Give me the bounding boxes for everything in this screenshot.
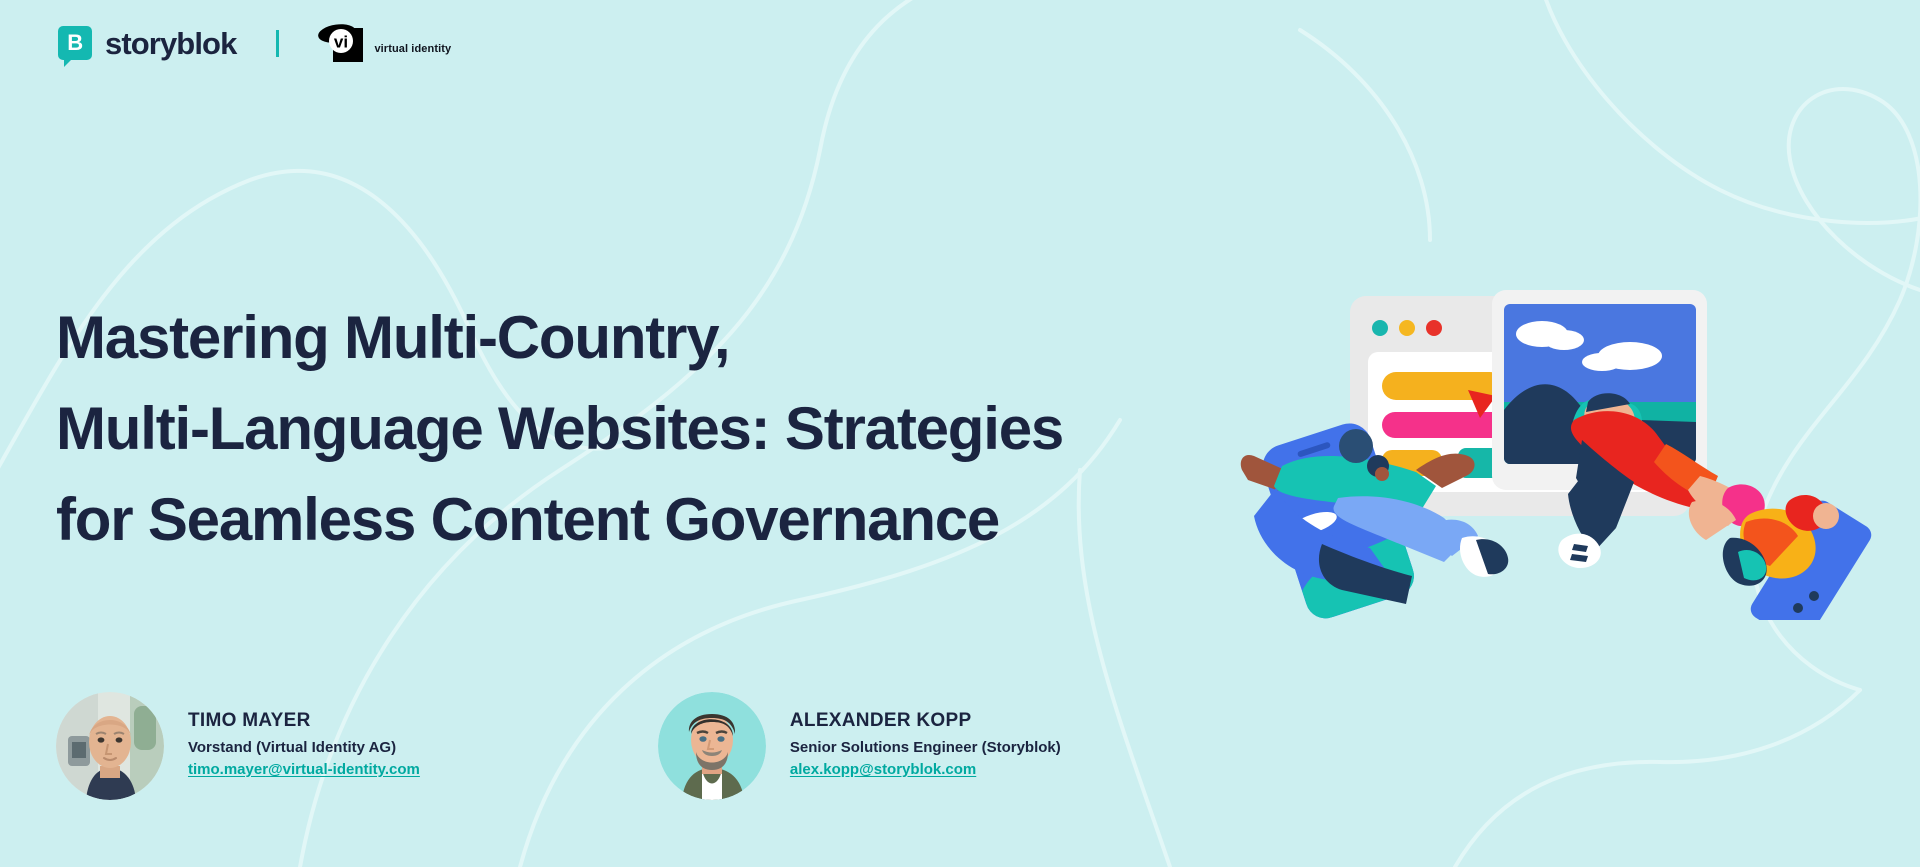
speaker-role: Senior Solutions Engineer (Storyblok) [790, 739, 1061, 757]
title-slide: B storyblok vi virtual identity Masterin… [0, 0, 1920, 867]
speaker-card: ALEXANDER KOPP Senior Solutions Engineer… [658, 692, 1061, 800]
speaker-name: TIMO MAYER [188, 711, 420, 730]
speaker-role: Vorstand (Virtual Identity AG) [188, 739, 420, 757]
person-yellow-graphic [1689, 495, 1875, 620]
svg-text:vi: vi [334, 33, 348, 52]
logo-divider [276, 30, 279, 57]
hero-illustration [1230, 290, 1900, 620]
speaker-email-link[interactable]: timo.mayer@virtual-identity.com [188, 761, 420, 779]
virtual-identity-logo[interactable]: vi virtual identity [317, 20, 451, 66]
storyblok-speech-bubble-icon: B [58, 26, 92, 60]
speaker-email-link[interactable]: alex.kopp@storyblok.com [790, 761, 976, 779]
title-line-3: for Seamless Content Governance [56, 474, 1236, 565]
speaker-info: ALEXANDER KOPP Senior Solutions Engineer… [790, 711, 1061, 781]
slide-title: Mastering Multi-Country, Multi-Language … [56, 292, 1236, 565]
speaker-card: TIMO MAYER Vorstand (Virtual Identity AG… [56, 692, 420, 800]
title-line-2: Multi-Language Websites: Strategies [56, 383, 1236, 474]
timo-mayer-avatar [56, 692, 164, 800]
speaker-info: TIMO MAYER Vorstand (Virtual Identity AG… [188, 711, 420, 781]
storyblok-wordmark: storyblok [105, 28, 236, 59]
virtual-identity-wordmark: virtual identity [374, 43, 451, 55]
storyblok-logo[interactable]: B storyblok [58, 26, 236, 60]
speakers-row: TIMO MAYER Vorstand (Virtual Identity AG… [56, 692, 1061, 800]
alexander-kopp-avatar [658, 692, 766, 800]
speaker-name: ALEXANDER KOPP [790, 711, 1061, 730]
storyblok-mark-letter: B [58, 26, 92, 60]
title-line-1: Mastering Multi-Country, [56, 292, 1236, 383]
virtual-identity-mark-icon: vi [317, 20, 363, 66]
header-logos: B storyblok vi virtual identity [58, 14, 451, 72]
